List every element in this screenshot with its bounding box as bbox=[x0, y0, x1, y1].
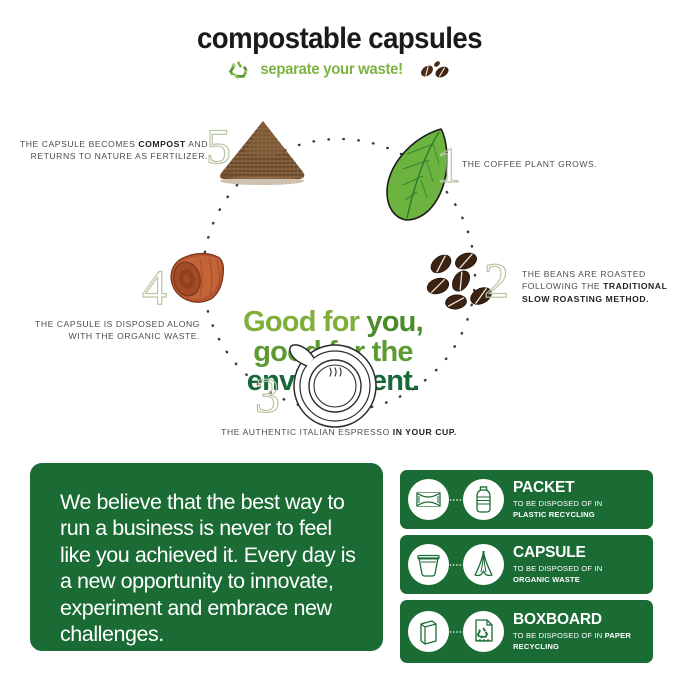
step-1-text: THE COFFEE PLANT GROWS. bbox=[462, 159, 597, 169]
dotted-connector bbox=[449, 631, 463, 633]
infographic-page: compostable capsules separate your waste… bbox=[0, 0, 679, 679]
paper-recycling-icon bbox=[463, 611, 504, 652]
coffee-capsule-icon bbox=[163, 248, 231, 315]
espresso-cup-icon bbox=[283, 338, 381, 435]
card-sub-packet: TO BE DISPOSED OF IN PLASTIC RECYCLING bbox=[513, 499, 602, 520]
step-number-1: 1 bbox=[436, 140, 461, 190]
step-number-2: 2 bbox=[484, 255, 509, 305]
disposal-card-packet[interactable]: PACKET TO BE DISPOSED OF IN PLASTIC RECY… bbox=[400, 470, 653, 529]
card-sub-boxboard: TO BE DISPOSED OF IN PAPER RECYCLING bbox=[513, 631, 631, 652]
step-label-1: THE COFFEE PLANT GROWS. bbox=[462, 158, 652, 170]
card-text-capsule: CAPSULE TO BE DISPOSED OF IN ORGANIC WAS… bbox=[513, 544, 602, 585]
card-sub-bold-capsule: ORGANIC WASTE bbox=[513, 575, 580, 584]
step-5-text-a: THE CAPSULE BECOMES bbox=[20, 139, 138, 149]
carton-box-icon bbox=[408, 611, 449, 652]
card-sub-capsule: TO BE DISPOSED OF IN ORGANIC WASTE bbox=[513, 564, 602, 585]
disposal-card-boxboard[interactable]: BOXBOARD TO BE DISPOSED OF IN PAPER RECY… bbox=[400, 600, 653, 663]
header: compostable capsules separate your waste… bbox=[0, 24, 679, 80]
card-sub-plain-packet: TO BE DISPOSED OF IN bbox=[513, 499, 602, 508]
recycle-icon bbox=[228, 60, 250, 80]
card-sub-plain-boxboard: TO BE DISPOSED OF IN bbox=[513, 631, 605, 640]
page-subtitle: separate your waste! bbox=[260, 61, 402, 79]
business-quote-panel: We believe that the best way to run a bu… bbox=[30, 463, 383, 651]
page-title: compostable capsules bbox=[27, 24, 652, 54]
step-number-3: 3 bbox=[255, 370, 280, 420]
header-subline: separate your waste! bbox=[0, 60, 679, 80]
step-label-2: THE BEANS ARE ROASTED FOLLOWING THE TRAD… bbox=[522, 268, 674, 305]
compost-pile-icon bbox=[215, 118, 315, 195]
capsule-cup-icon bbox=[408, 544, 449, 585]
card-text-boxboard: BOXBOARD TO BE DISPOSED OF IN PAPER RECY… bbox=[513, 611, 631, 652]
card-sub-plain2-boxboard: RECYCLING bbox=[513, 642, 559, 651]
card-title-packet: PACKET bbox=[513, 479, 574, 496]
banana-peel-icon bbox=[463, 544, 504, 585]
step-label-5: THE CAPSULE BECOMES COMPOST AND RETURNS … bbox=[18, 138, 208, 163]
coffee-packet-icon bbox=[408, 479, 449, 520]
step-4-text: THE CAPSULE IS DISPOSED ALONG WITH THE O… bbox=[35, 319, 200, 341]
business-quote-text: We believe that the best way to run a bu… bbox=[60, 489, 357, 648]
card-title-capsule: CAPSULE bbox=[513, 544, 586, 561]
step-label-3: THE AUTHENTIC ITALIAN ESPRESSO IN YOUR C… bbox=[169, 426, 509, 438]
card-sub-bold-packet: PLASTIC RECYCLING bbox=[513, 510, 595, 519]
disposal-cards: PACKET TO BE DISPOSED OF IN PLASTIC RECY… bbox=[400, 470, 653, 669]
card-sub-bold-boxboard: PAPER bbox=[605, 631, 631, 640]
step-3-text: THE AUTHENTIC ITALIAN ESPRESSO bbox=[221, 427, 393, 437]
quote-line1-b: you, bbox=[366, 306, 422, 338]
lifecycle-diagram: Good for you, good for the environment. … bbox=[0, 100, 679, 450]
coffee-beans-icon bbox=[417, 60, 451, 80]
disposal-card-capsule[interactable]: CAPSULE TO BE DISPOSED OF IN ORGANIC WAS… bbox=[400, 535, 653, 594]
card-sub-plain-capsule: TO BE DISPOSED OF IN bbox=[513, 564, 602, 573]
dotted-connector bbox=[449, 564, 463, 566]
plastic-bottle-icon bbox=[463, 479, 504, 520]
dotted-connector bbox=[449, 499, 463, 501]
step-5-text-bold: COMPOST bbox=[138, 139, 185, 149]
card-text-packet: PACKET TO BE DISPOSED OF IN PLASTIC RECY… bbox=[513, 479, 602, 520]
step-label-4: THE CAPSULE IS DISPOSED ALONG WITH THE O… bbox=[10, 318, 200, 343]
quote-line1-a: Good for bbox=[243, 306, 366, 338]
card-title-boxboard: BOXBOARD bbox=[513, 611, 602, 628]
step-3-text-bold: IN YOUR CUP. bbox=[393, 427, 457, 437]
